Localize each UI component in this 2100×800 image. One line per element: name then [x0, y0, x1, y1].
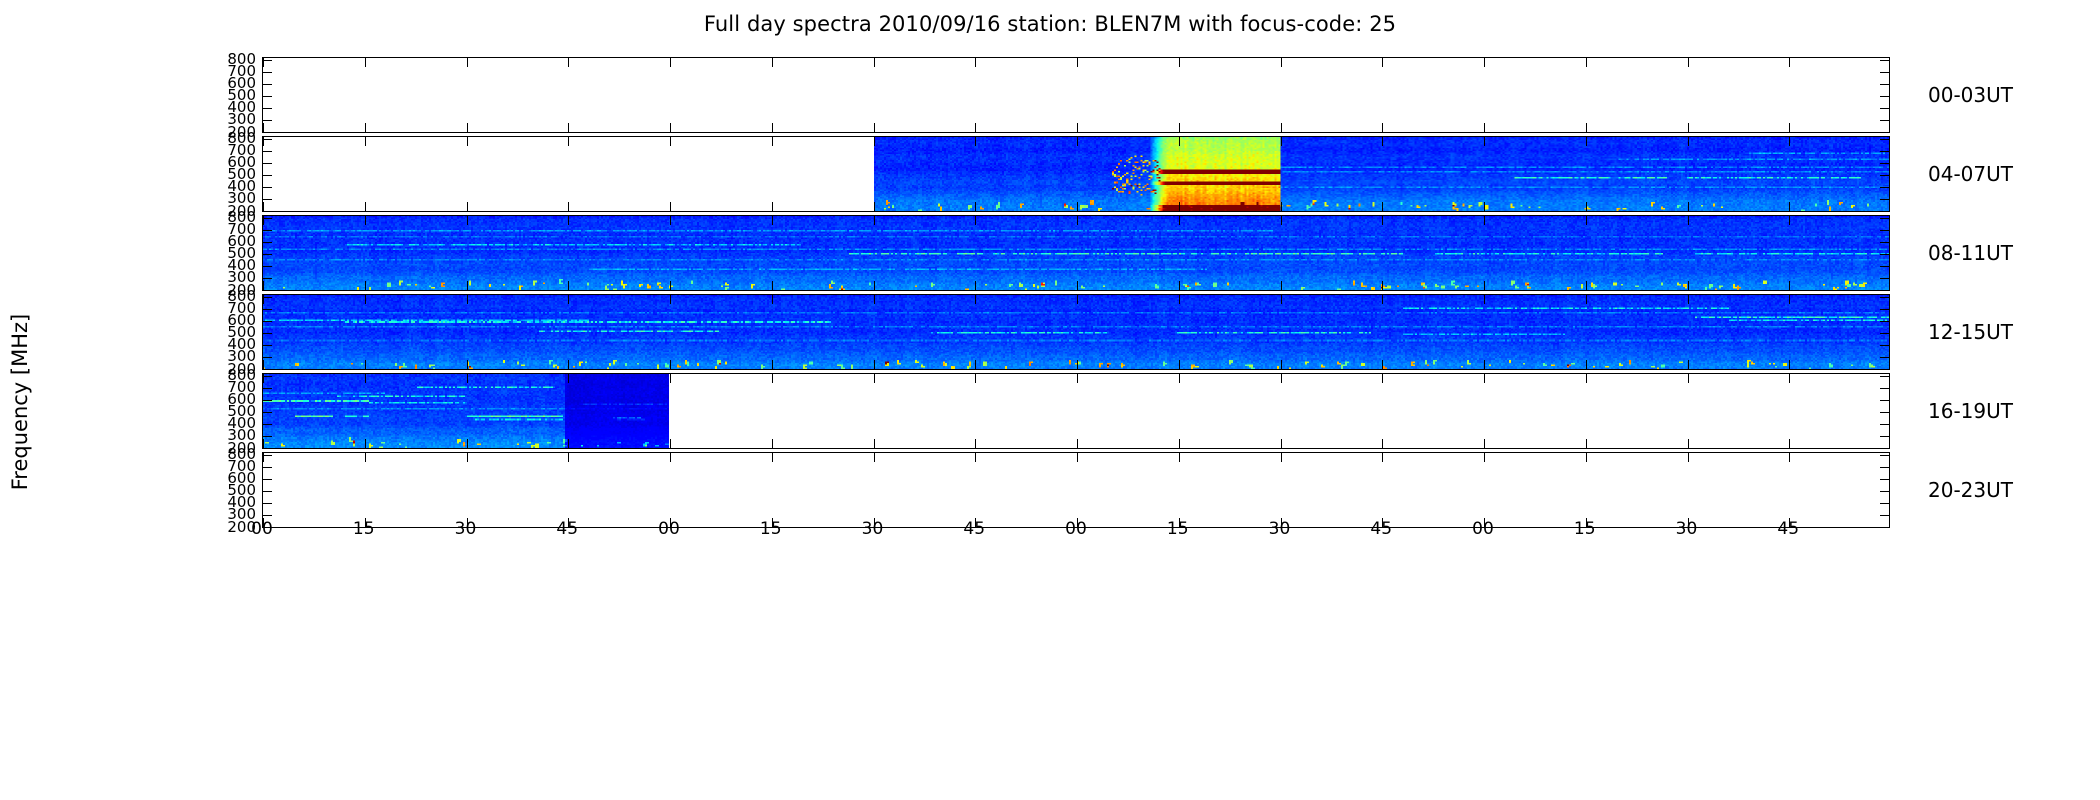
panel-plot-area [262, 452, 1890, 528]
x-tick-label: 45 [952, 519, 996, 539]
x-tick-mark [1179, 374, 1180, 383]
x-tick-mark [1382, 202, 1383, 211]
x-tick-mark [1484, 58, 1485, 67]
panel-time-label: 04-07UT [1928, 162, 2013, 186]
y-tick-mark [1880, 503, 1889, 504]
y-tick-mark [263, 297, 272, 298]
x-tick-mark [1382, 374, 1383, 383]
y-tick-mark [263, 467, 272, 468]
y-tick-mark [263, 503, 272, 504]
x-tick-mark [874, 216, 875, 225]
x-tick-mark [975, 202, 976, 211]
y-tick-mark [1880, 455, 1889, 456]
y-tick-mark [263, 333, 272, 334]
x-tick-mark [772, 202, 773, 211]
x-tick-mark [467, 123, 468, 132]
x-tick-mark [568, 123, 569, 132]
x-tick-mark [568, 453, 569, 462]
x-tick-mark [1484, 360, 1485, 369]
x-tick-mark [772, 123, 773, 132]
x-tick-mark [1789, 137, 1790, 146]
x-tick-mark [975, 123, 976, 132]
x-tick-mark [975, 281, 976, 290]
y-tick-mark [263, 230, 272, 231]
y-tick-mark [263, 412, 272, 413]
x-tick-mark [1789, 439, 1790, 448]
x-tick-mark [975, 453, 976, 462]
x-tick-mark [1179, 439, 1180, 448]
x-tick-mark [1179, 58, 1180, 67]
x-tick-mark [670, 453, 671, 462]
y-tick-mark [1880, 278, 1889, 279]
y-tick-mark [1880, 108, 1889, 109]
y-tick-mark [1880, 84, 1889, 85]
panel-time-label: 20-23UT [1928, 478, 2013, 502]
x-tick-mark [772, 137, 773, 146]
spectrogram-figure: Full day spectra 2010/09/16 station: BLE… [0, 0, 2100, 800]
x-tick-mark [1077, 360, 1078, 369]
y-tick-mark [1880, 467, 1889, 468]
spectrogram-panel-00-03ut [262, 57, 1890, 133]
x-tick-mark [263, 58, 264, 67]
x-tick-mark [1281, 202, 1282, 211]
x-tick-mark [772, 281, 773, 290]
y-tick-mark [263, 242, 272, 243]
x-tick-mark [772, 453, 773, 462]
x-tick-mark [1382, 360, 1383, 369]
x-tick-mark [1382, 439, 1383, 448]
spectrogram-data [263, 216, 1890, 290]
x-tick-mark [467, 202, 468, 211]
y-tick-mark [263, 218, 272, 219]
x-tick-mark [467, 453, 468, 462]
y-tick-mark [1880, 370, 1889, 371]
x-tick-mark [365, 123, 366, 132]
x-tick-mark [975, 374, 976, 383]
y-tick-mark [263, 187, 272, 188]
y-tick-mark [1880, 412, 1889, 413]
y-tick-mark [1880, 436, 1889, 437]
y-tick-mark [263, 133, 272, 134]
x-tick-mark [467, 439, 468, 448]
x-tick-mark [874, 360, 875, 369]
x-tick-mark [1281, 439, 1282, 448]
x-tick-mark [772, 295, 773, 304]
x-tick-mark [1586, 137, 1587, 146]
x-tick-mark [670, 216, 671, 225]
x-tick-mark [1179, 202, 1180, 211]
spectrogram-data [874, 137, 1890, 211]
y-tick-mark [263, 345, 272, 346]
y-axis-title-text: Frequency [MHz] [8, 232, 32, 572]
x-tick-mark [1484, 281, 1485, 290]
x-tick-mark [874, 374, 875, 383]
x-tick-mark [1281, 137, 1282, 146]
panel-time-label: 12-15UT [1928, 320, 2013, 344]
x-tick-mark [1586, 360, 1587, 369]
x-tick-mark [467, 137, 468, 146]
x-tick-mark [568, 58, 569, 67]
x-tick-label: 45 [1359, 519, 1403, 539]
y-tick-mark [263, 278, 272, 279]
x-tick-mark [1281, 58, 1282, 67]
y-tick-mark [1880, 175, 1889, 176]
x-tick-mark [1281, 295, 1282, 304]
y-tick-mark [1880, 139, 1889, 140]
x-tick-mark [772, 360, 773, 369]
x-tick-mark [670, 58, 671, 67]
x-tick-mark [1179, 453, 1180, 462]
x-tick-mark [975, 137, 976, 146]
x-tick-mark [263, 295, 264, 304]
x-tick-mark [1586, 58, 1587, 67]
y-tick-mark [1880, 254, 1889, 255]
panel-time-label: 08-11UT [1928, 241, 2013, 265]
x-tick-mark [874, 123, 875, 132]
x-tick-mark [1789, 123, 1790, 132]
x-tick-mark [263, 202, 264, 211]
x-tick-mark [1382, 295, 1383, 304]
x-tick-mark [263, 453, 264, 462]
x-tick-mark [1281, 453, 1282, 462]
x-tick-mark [670, 439, 671, 448]
x-tick-mark [874, 439, 875, 448]
x-tick-mark [263, 374, 264, 383]
x-tick-mark [1586, 281, 1587, 290]
x-tick-mark [568, 216, 569, 225]
y-tick-mark [1880, 309, 1889, 310]
x-tick-mark [467, 58, 468, 67]
y-tick-mark [263, 357, 272, 358]
y-tick-mark [263, 139, 272, 140]
x-tick-mark [1586, 439, 1587, 448]
x-tick-mark [772, 374, 773, 383]
y-tick-mark [1880, 528, 1889, 529]
x-tick-mark [1789, 360, 1790, 369]
panel-plot-area [262, 294, 1890, 370]
x-tick-mark [1484, 137, 1485, 146]
x-tick-mark [1688, 202, 1689, 211]
y-tick-mark [263, 151, 272, 152]
x-tick-mark [1789, 453, 1790, 462]
x-tick-mark [772, 439, 773, 448]
x-tick-label: 00 [1054, 519, 1098, 539]
x-tick-mark [365, 360, 366, 369]
x-tick-mark [1179, 295, 1180, 304]
x-tick-mark [263, 360, 264, 369]
x-tick-mark [874, 295, 875, 304]
x-tick-mark [1688, 58, 1689, 67]
x-tick-mark [1077, 374, 1078, 383]
x-tick-label: 15 [1563, 519, 1607, 539]
y-tick-mark [263, 60, 272, 61]
x-tick-mark [1484, 123, 1485, 132]
x-tick-mark [1688, 216, 1689, 225]
x-tick-label: 30 [851, 519, 895, 539]
x-tick-mark [670, 295, 671, 304]
y-tick-mark [263, 212, 272, 213]
x-tick-mark [467, 295, 468, 304]
x-tick-mark [1688, 439, 1689, 448]
x-tick-mark [975, 360, 976, 369]
x-tick-mark [1281, 123, 1282, 132]
y-tick-mark [263, 108, 272, 109]
y-tick-mark [263, 309, 272, 310]
y-tick-mark [1880, 376, 1889, 377]
y-tick-mark [1880, 163, 1889, 164]
x-tick-label: 00 [240, 519, 284, 539]
x-tick-mark [1179, 281, 1180, 290]
x-tick-mark [1586, 453, 1587, 462]
x-tick-mark [1077, 453, 1078, 462]
x-tick-mark [670, 202, 671, 211]
x-tick-mark [1179, 137, 1180, 146]
x-tick-mark [1586, 216, 1587, 225]
x-tick-label: 30 [1258, 519, 1302, 539]
y-tick-mark [1880, 479, 1889, 480]
y-tick-mark [1880, 212, 1889, 213]
x-tick-mark [1586, 374, 1587, 383]
y-tick-mark [1880, 357, 1889, 358]
y-tick-mark [1880, 424, 1889, 425]
x-tick-mark [263, 123, 264, 132]
spectrogram-data [263, 295, 1890, 369]
x-tick-label: 15 [1156, 519, 1200, 539]
figure-title: Full day spectra 2010/09/16 station: BLE… [0, 12, 2100, 36]
y-tick-mark [263, 321, 272, 322]
x-tick-mark [772, 216, 773, 225]
x-tick-mark [365, 216, 366, 225]
x-tick-mark [1688, 123, 1689, 132]
x-tick-mark [975, 58, 976, 67]
x-tick-mark [1789, 216, 1790, 225]
y-tick-mark [1880, 120, 1889, 121]
x-tick-mark [365, 58, 366, 67]
x-tick-mark [1484, 295, 1485, 304]
x-tick-mark [1382, 453, 1383, 462]
y-tick-mark [263, 370, 272, 371]
x-tick-mark [874, 58, 875, 67]
x-tick-mark [365, 295, 366, 304]
y-tick-mark [263, 84, 272, 85]
y-axis-title: Frequency [MHz] [0, 0, 30, 800]
panel-plot-area [262, 57, 1890, 133]
spectrogram-data [263, 374, 669, 448]
x-tick-label: 00 [647, 519, 691, 539]
x-tick-mark [263, 216, 264, 225]
x-tick-mark [568, 137, 569, 146]
x-tick-mark [1789, 58, 1790, 67]
x-tick-mark [1484, 216, 1485, 225]
x-tick-mark [975, 295, 976, 304]
x-tick-mark [1077, 216, 1078, 225]
y-tick-mark [263, 254, 272, 255]
x-tick-mark [1688, 295, 1689, 304]
y-tick-mark [1880, 388, 1889, 389]
y-tick-mark [1880, 449, 1889, 450]
x-tick-mark [1077, 295, 1078, 304]
x-tick-mark [1688, 374, 1689, 383]
y-tick-mark [1880, 199, 1889, 200]
panel-plot-area [262, 215, 1890, 291]
y-tick-mark [263, 424, 272, 425]
y-tick-mark [1880, 321, 1889, 322]
y-tick-mark [263, 449, 272, 450]
x-tick-mark [874, 202, 875, 211]
x-tick-mark [1484, 202, 1485, 211]
x-tick-mark [568, 281, 569, 290]
x-tick-mark [263, 281, 264, 290]
x-tick-mark [1179, 123, 1180, 132]
spectrogram-panel-16-19ut [262, 373, 1890, 449]
y-tick-mark [263, 376, 272, 377]
x-tick-mark [1281, 281, 1282, 290]
y-tick-mark [263, 479, 272, 480]
x-tick-mark [1789, 295, 1790, 304]
x-tick-mark [1179, 360, 1180, 369]
y-tick-mark [263, 72, 272, 73]
x-tick-mark [670, 137, 671, 146]
x-tick-mark [1789, 281, 1790, 290]
x-tick-mark [467, 281, 468, 290]
x-tick-mark [670, 374, 671, 383]
x-tick-mark [467, 374, 468, 383]
x-tick-mark [1382, 137, 1383, 146]
x-tick-mark [1586, 123, 1587, 132]
x-tick-mark [1281, 374, 1282, 383]
x-tick-mark [1077, 281, 1078, 290]
x-tick-mark [874, 137, 875, 146]
y-tick-mark [1880, 297, 1889, 298]
x-tick-mark [365, 202, 366, 211]
spectrogram-panel-08-11ut [262, 215, 1890, 291]
y-tick-mark [1880, 72, 1889, 73]
x-tick-mark [670, 281, 671, 290]
x-tick-mark [263, 439, 264, 448]
x-tick-mark [874, 453, 875, 462]
y-tick-mark [1880, 333, 1889, 334]
y-tick-mark [1880, 133, 1889, 134]
x-tick-mark [1382, 216, 1383, 225]
y-tick-mark [263, 120, 272, 121]
y-tick-mark [263, 266, 272, 267]
x-tick-label: 45 [1766, 519, 1810, 539]
x-tick-label: 15 [749, 519, 793, 539]
panel-time-label: 00-03UT [1928, 83, 2013, 107]
y-tick-mark [1880, 491, 1889, 492]
x-tick-mark [1688, 360, 1689, 369]
x-tick-mark [1586, 295, 1587, 304]
panel-time-label: 16-19UT [1928, 399, 2013, 423]
y-tick-mark [263, 175, 272, 176]
x-tick-mark [1789, 374, 1790, 383]
x-tick-mark [1484, 439, 1485, 448]
x-tick-mark [263, 137, 264, 146]
x-tick-mark [1789, 202, 1790, 211]
y-tick-mark [263, 199, 272, 200]
y-tick-mark [263, 515, 272, 516]
x-tick-mark [1382, 123, 1383, 132]
y-tick-mark [1880, 345, 1889, 346]
x-tick-label: 15 [342, 519, 386, 539]
x-tick-mark [1077, 58, 1078, 67]
x-tick-mark [874, 281, 875, 290]
x-tick-mark [670, 360, 671, 369]
x-tick-mark [772, 58, 773, 67]
x-tick-mark [467, 360, 468, 369]
panel-plot-area [262, 136, 1890, 212]
x-tick-mark [365, 374, 366, 383]
y-tick-mark [1880, 291, 1889, 292]
y-tick-mark [1880, 151, 1889, 152]
x-tick-label: 30 [1665, 519, 1709, 539]
spectrogram-panel-20-23ut [262, 452, 1890, 528]
x-tick-label: 30 [444, 519, 488, 539]
x-tick-mark [975, 439, 976, 448]
x-tick-mark [1077, 202, 1078, 211]
x-tick-mark [1179, 216, 1180, 225]
spectrogram-panel-04-07ut [262, 136, 1890, 212]
x-tick-mark [1077, 137, 1078, 146]
x-tick-mark [1281, 360, 1282, 369]
x-tick-mark [365, 137, 366, 146]
y-tick-mark [263, 491, 272, 492]
x-tick-mark [1077, 123, 1078, 132]
y-tick-mark [1880, 187, 1889, 188]
x-tick-mark [1382, 281, 1383, 290]
y-tick-mark [1880, 230, 1889, 231]
y-tick-mark [1880, 60, 1889, 61]
x-tick-mark [1586, 202, 1587, 211]
x-tick-mark [1382, 58, 1383, 67]
y-tick-mark [263, 291, 272, 292]
x-tick-mark [365, 439, 366, 448]
x-tick-mark [568, 360, 569, 369]
y-tick-mark [263, 436, 272, 437]
y-tick-mark [263, 388, 272, 389]
y-tick-mark [263, 96, 272, 97]
x-tick-mark [670, 123, 671, 132]
x-tick-mark [365, 281, 366, 290]
y-tick-mark [1880, 242, 1889, 243]
x-tick-mark [1484, 453, 1485, 462]
x-tick-mark [975, 216, 976, 225]
x-tick-label: 00 [1461, 519, 1505, 539]
y-tick-mark [1880, 218, 1889, 219]
x-tick-mark [467, 216, 468, 225]
x-tick-mark [1688, 281, 1689, 290]
x-tick-mark [1077, 439, 1078, 448]
x-tick-label: 45 [545, 519, 589, 539]
y-tick-mark [1880, 400, 1889, 401]
x-tick-mark [568, 295, 569, 304]
x-tick-mark [568, 202, 569, 211]
x-tick-mark [1688, 137, 1689, 146]
x-tick-mark [1688, 453, 1689, 462]
y-tick-mark [263, 455, 272, 456]
y-tick-mark [1880, 266, 1889, 267]
x-tick-mark [1281, 216, 1282, 225]
x-tick-mark [568, 439, 569, 448]
spectrogram-panel-12-15ut [262, 294, 1890, 370]
panel-plot-area [262, 373, 1890, 449]
x-tick-mark [365, 453, 366, 462]
x-tick-mark [568, 374, 569, 383]
y-tick-mark [263, 400, 272, 401]
y-tick-mark [263, 163, 272, 164]
y-tick-mark [1880, 515, 1889, 516]
y-tick-mark [1880, 96, 1889, 97]
